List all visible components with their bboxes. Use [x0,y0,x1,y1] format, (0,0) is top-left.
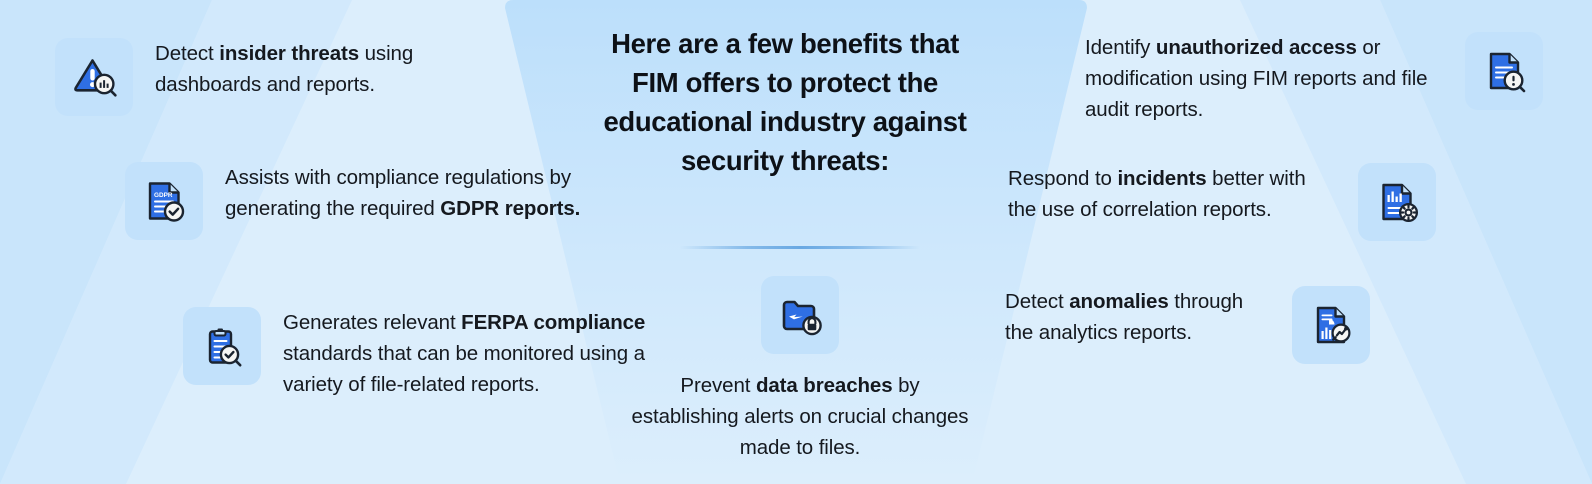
benefit-item-incidents: Respond to incidents better with the use… [1008,163,1436,241]
benefit-text-unauthorized-access: Identify unauthorized access or modifica… [1085,32,1445,125]
benefit-text-anomalies: Detect anomalies through the analytics r… [1005,286,1272,348]
benefit-item-gdpr: GDPR Assists with compliance regulations… [125,162,605,240]
page-title: Here are a few benefits that FIM offers … [600,24,970,180]
gdpr-icon-label: GDPR [154,192,173,199]
folder-breach-lock-icon [774,289,826,341]
benefit-item-unauthorized-access: Identify unauthorized access or modifica… [1085,32,1543,125]
benefit-item-data-breaches: Prevent data breaches by establishing al… [630,276,970,463]
benefit-text-insider-threats: Detect insider threats using dashboards … [155,38,485,100]
headline-divider [680,246,920,249]
folder-breach-lock-icon-tile [761,276,839,354]
document-analytics-trend-icon [1305,299,1357,351]
clipboard-check-search-icon-tile [183,307,261,385]
benefit-text-data-breaches: Prevent data breaches by establishing al… [630,370,970,463]
document-analytics-trend-icon-tile [1292,286,1370,364]
gdpr-document-check-icon-tile: GDPR [125,162,203,240]
benefit-item-ferpa: Generates relevant FERPA compliance stan… [183,307,683,400]
gdpr-document-check-icon: GDPR [138,175,190,227]
benefit-item-insider-threats: Detect insider threats using dashboards … [55,38,485,116]
alert-triangle-analytics-icon-tile [55,38,133,116]
clipboard-check-search-icon [196,320,248,372]
document-chart-gear-icon [1371,176,1423,228]
benefit-text-ferpa: Generates relevant FERPA compliance stan… [283,307,683,400]
alert-triangle-analytics-icon [68,51,120,103]
document-chart-gear-icon-tile [1358,163,1436,241]
benefit-text-gdpr: Assists with compliance regulations by g… [225,162,605,224]
document-alert-search-icon [1478,45,1530,97]
document-alert-search-icon-tile [1465,32,1543,110]
benefit-text-incidents: Respond to incidents better with the use… [1008,163,1338,225]
benefit-item-anomalies: Detect anomalies through the analytics r… [1005,286,1370,364]
